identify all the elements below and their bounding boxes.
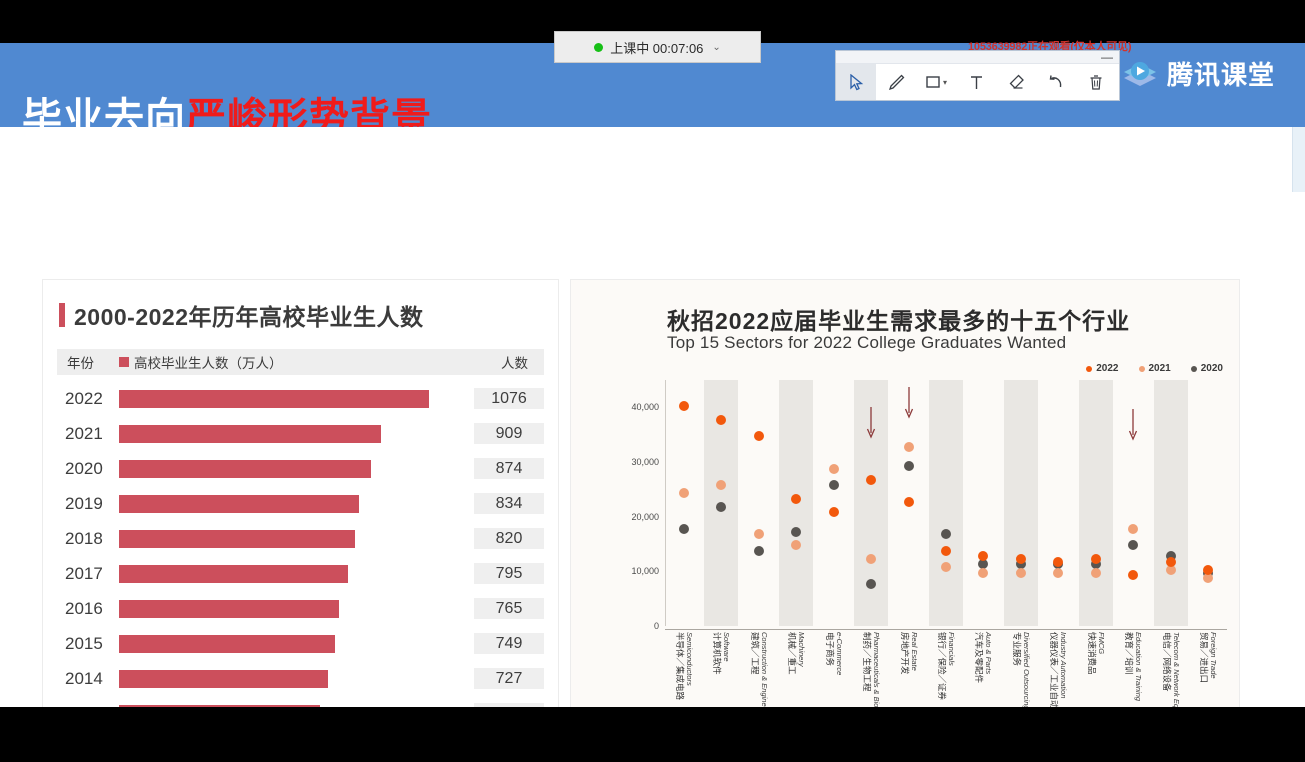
tencent-classroom-brand: 腾讯课堂 (1120, 55, 1275, 92)
row-bar-track (119, 451, 474, 486)
legend-item: 2020 (1191, 363, 1223, 374)
data-point (791, 540, 801, 550)
row-year: 2022 (57, 389, 119, 409)
x-axis-tick-label: Real Estate房地产开发 (899, 632, 919, 675)
x-axis-tick-label: Foreign Trade贸易／进出口 (1199, 632, 1219, 683)
row-value: 749 (474, 633, 544, 654)
y-axis-tick-label: 40,000 (631, 402, 665, 412)
data-point (1128, 540, 1138, 550)
row-bar (119, 600, 339, 618)
trash-icon (1088, 74, 1104, 91)
table-row: 2017795 (57, 556, 544, 591)
dotplot-legend: 202220212020 (1086, 363, 1223, 374)
row-bar-track (119, 626, 474, 661)
graduates-card-header: 2000-2022年历年高校毕业生人数 (59, 298, 558, 332)
row-year: 2017 (57, 564, 119, 584)
column-header-legend: 高校毕业生人数（万人） (119, 352, 474, 372)
legend-item-label: 2022 (1096, 363, 1118, 374)
select-tool-button[interactable] (836, 64, 876, 100)
text-tool-button[interactable] (956, 64, 996, 100)
minimize-icon[interactable]: — (1101, 53, 1113, 61)
graduates-bar-card: 2000-2022年历年高校毕业生人数 年份 高校毕业生人数（万人） 人数 20… (42, 279, 559, 762)
data-point (941, 529, 951, 539)
column-band (929, 380, 962, 626)
legend-dot-icon (1086, 366, 1092, 372)
row-value: 820 (474, 528, 544, 549)
row-value: 765 (474, 598, 544, 619)
down-arrow-annotation-icon (1128, 408, 1138, 447)
column-header-count: 人数 (474, 352, 544, 372)
row-bar-track (119, 591, 474, 626)
row-year: 2019 (57, 494, 119, 514)
data-point (978, 568, 988, 578)
page-scrollbar[interactable] (1292, 127, 1305, 192)
data-point (829, 507, 839, 517)
data-point (866, 579, 876, 589)
legend-item: 2021 (1139, 363, 1171, 374)
data-point (679, 488, 689, 498)
x-axis-line (665, 629, 1227, 630)
text-t-icon (968, 74, 985, 91)
undo-tool-button[interactable] (1036, 64, 1076, 100)
eraser-icon (1007, 73, 1025, 91)
undo-arrow-icon (1047, 73, 1065, 91)
slide-canvas: 2000-2022年历年高校毕业生人数 年份 高校毕业生人数（万人） 人数 20… (0, 127, 1305, 707)
data-point (679, 524, 689, 534)
data-point (716, 415, 726, 425)
row-bar-track (119, 521, 474, 556)
table-header-row: 年份 高校毕业生人数（万人） 人数 (57, 349, 544, 375)
legend-item-label: 2020 (1201, 363, 1223, 374)
row-year: 2014 (57, 669, 119, 689)
data-point (1166, 557, 1176, 567)
row-bar (119, 670, 328, 688)
bottom-letterbox (0, 707, 1305, 762)
data-point (716, 502, 726, 512)
data-point (754, 529, 764, 539)
data-point (941, 546, 951, 556)
toolbar-tools: ▾ (836, 64, 1119, 100)
data-point (791, 494, 801, 504)
shape-tool-button[interactable]: ▾ (916, 64, 956, 100)
data-point (1053, 557, 1063, 567)
legend-item-label: 2021 (1149, 363, 1171, 374)
data-point (1053, 568, 1063, 578)
data-point (1128, 524, 1138, 534)
row-bar (119, 390, 429, 408)
row-value: 727 (474, 668, 544, 689)
row-bar (119, 565, 348, 583)
data-point (1016, 554, 1026, 564)
row-bar-track (119, 416, 474, 451)
column-band (1079, 380, 1112, 626)
row-year: 2015 (57, 634, 119, 654)
row-bar (119, 425, 381, 443)
legend-label: 高校毕业生人数（万人） (134, 352, 283, 372)
row-value: 909 (474, 423, 544, 444)
row-year: 2020 (57, 459, 119, 479)
y-axis-tick-label: 10,000 (631, 566, 665, 576)
table-row: 2021909 (57, 416, 544, 451)
delete-tool-button[interactable] (1076, 64, 1116, 100)
annotation-toolbar: — ▾ (835, 50, 1120, 101)
row-value: 1076 (474, 388, 544, 409)
y-axis-tick-label: 30,000 (631, 457, 665, 467)
legend-dot-icon (1191, 366, 1197, 372)
rectangle-icon (925, 74, 941, 90)
x-axis-tick-label: Financials银行／保险／证券 (936, 632, 956, 700)
data-point (791, 527, 801, 537)
x-axis-tick-label: e-Commerce电子商务 (824, 632, 844, 675)
sectors-dotplot-card: 秋招2022应届毕业生需求最多的十五个行业 Top 15 Sectors for… (570, 279, 1240, 762)
data-point (716, 480, 726, 490)
row-year: 2016 (57, 599, 119, 619)
data-point (829, 464, 839, 474)
x-axis-tick-label: Auto & Parts汽车及零配件 (974, 632, 994, 683)
x-axis-tick-label: Industry Automation仪器仪表／工业自动化 (1049, 632, 1069, 717)
row-bar-track (119, 556, 474, 591)
pencil-icon (887, 73, 906, 92)
x-axis-tick-label: Machinery机械／重工 (786, 632, 806, 675)
column-header-year: 年份 (57, 352, 119, 372)
x-axis-tick-label: Education & Training教育／培训 (1124, 632, 1144, 701)
data-point (1091, 568, 1101, 578)
data-point (866, 475, 876, 485)
column-band (1154, 380, 1187, 626)
data-point (904, 461, 914, 471)
row-value: 834 (474, 493, 544, 514)
data-point (754, 546, 764, 556)
dotplot-title-cn: 秋招2022应届毕业生需求最多的十五个行业 (667, 302, 1130, 336)
y-axis-line (665, 380, 666, 626)
legend-swatch-icon (119, 357, 129, 367)
data-point (1016, 568, 1026, 578)
legend-item: 2022 (1086, 363, 1118, 374)
data-point (978, 551, 988, 561)
x-axis-tick-label: Software计算机软件 (711, 632, 731, 675)
data-point (941, 562, 951, 572)
down-arrow-annotation-icon (866, 406, 876, 445)
row-year: 2018 (57, 529, 119, 549)
row-value: 795 (474, 563, 544, 584)
live-status-icon (594, 43, 603, 52)
row-bar (119, 530, 355, 548)
data-point (904, 497, 914, 507)
toolbar-titlebar: — (836, 51, 1119, 64)
row-bar-track (119, 486, 474, 521)
row-bar (119, 460, 371, 478)
row-bar (119, 635, 335, 653)
down-arrow-annotation-icon (904, 386, 914, 425)
chevron-down-icon[interactable]: ▾ (943, 78, 947, 87)
title-accent-bar (59, 303, 65, 327)
table-row: 2020874 (57, 451, 544, 486)
column-band (1004, 380, 1037, 626)
row-year: 2021 (57, 424, 119, 444)
row-value: 874 (474, 458, 544, 479)
data-point (904, 442, 914, 452)
data-point (1091, 554, 1101, 564)
data-point (1203, 565, 1213, 575)
graduates-card-title: 2000-2022年历年高校毕业生人数 (74, 298, 424, 332)
row-bar-track (119, 661, 474, 696)
eraser-tool-button[interactable] (996, 64, 1036, 100)
x-axis-tick-label: FMCG快速消费品 (1086, 632, 1106, 675)
dotplot-plot-area: 010,00020,00030,00040,000 (613, 380, 1227, 630)
data-point (754, 431, 764, 441)
table-row: 2014727 (57, 661, 544, 696)
chevron-down-icon[interactable]: ⌄ (712, 42, 720, 53)
class-status-pill[interactable]: 上课中 00:07:06 ⌄ (554, 31, 761, 63)
y-axis-tick-label: 20,000 (631, 512, 665, 522)
row-bar-track (119, 381, 474, 416)
legend-dot-icon (1139, 366, 1145, 372)
row-bar (119, 495, 359, 513)
y-axis-tick-label: 0 (654, 621, 665, 631)
data-point (866, 554, 876, 564)
table-row: 2015749 (57, 626, 544, 661)
data-point (1128, 570, 1138, 580)
dotplot-title-en: Top 15 Sectors for 2022 College Graduate… (667, 333, 1066, 353)
table-row: 2018820 (57, 521, 544, 556)
data-point (679, 401, 689, 411)
cursor-arrow-icon (849, 74, 864, 91)
data-point (829, 480, 839, 490)
screen: 毕业去向严峻形势背景 上课中 00:07:06 ⌄ 1053639982正在观看… (0, 0, 1305, 762)
x-axis-tick-label: Semiconductors半导体／集成电路 (674, 632, 694, 700)
table-row: 2016765 (57, 591, 544, 626)
table-row: 20221076 (57, 381, 544, 416)
pen-tool-button[interactable] (876, 64, 916, 100)
class-status-label: 上课中 00:07:06 (610, 38, 703, 57)
play-book-logo-icon (1120, 56, 1160, 92)
graduates-bar-rows: 2022107620219092020874201983420188202017… (57, 381, 544, 762)
table-row: 2019834 (57, 486, 544, 521)
brand-name: 腾讯课堂 (1167, 55, 1275, 92)
